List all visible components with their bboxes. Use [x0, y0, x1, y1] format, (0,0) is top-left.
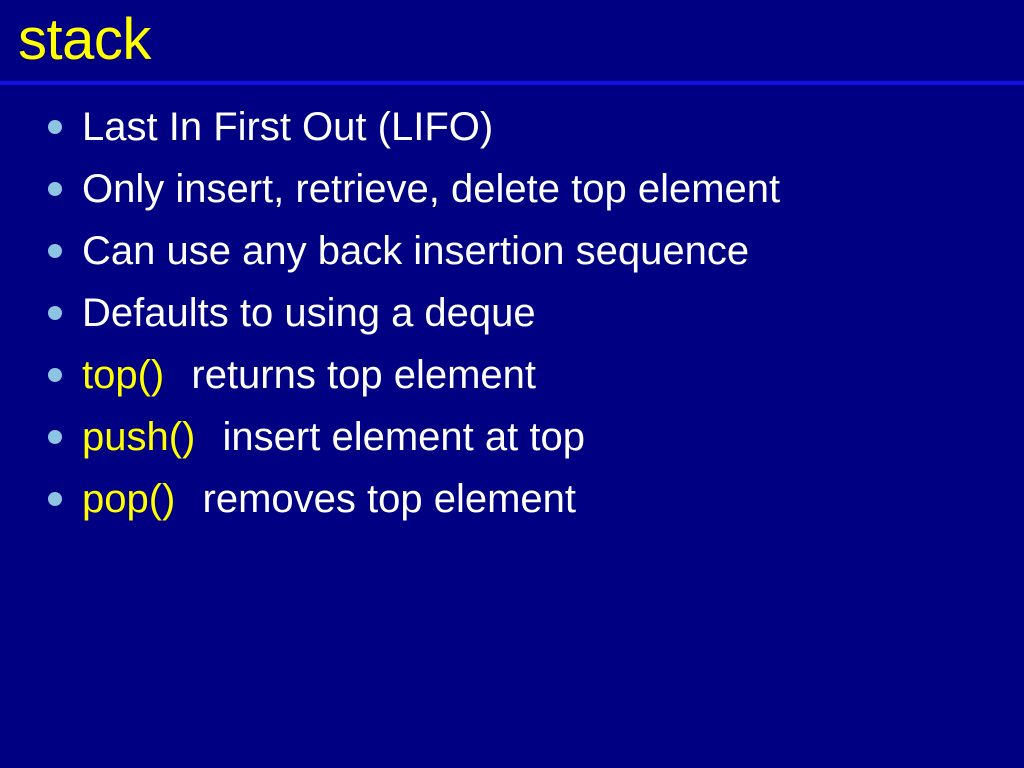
bullet-dot-icon: [48, 492, 62, 506]
bullet-dot-icon: [48, 182, 62, 196]
list-item: top() returns top element: [0, 344, 1024, 406]
list-item-label: Last In First Out (LIFO): [82, 105, 493, 149]
list-item-code: top(): [82, 353, 164, 397]
bullet-dot-icon: [48, 430, 62, 444]
list-item: Only insert, retrieve, delete top elemen…: [0, 158, 1024, 220]
list-item-label: Only insert, retrieve, delete top elemen…: [82, 167, 780, 211]
list-item: Can use any back insertion sequence: [0, 220, 1024, 282]
list-item-label: returns top element: [191, 353, 536, 397]
bullet-dot-icon: [48, 368, 62, 382]
bullet-dot-icon: [48, 306, 62, 320]
list-item: push() insert element at top: [0, 406, 1024, 468]
bullet-dot-icon: [48, 120, 62, 134]
list-item-label: removes top element: [203, 477, 577, 521]
list-item-label: Defaults to using a deque: [82, 291, 536, 335]
bullet-dot-icon: [48, 244, 62, 258]
list-item-code: pop(): [82, 477, 175, 521]
list-item: Last In First Out (LIFO): [0, 96, 1024, 158]
list-item: Defaults to using a deque: [0, 282, 1024, 344]
list-item: pop() removes top element: [0, 468, 1024, 530]
list-item-code: push(): [82, 415, 195, 459]
title-divider: [0, 81, 1024, 85]
bullet-list: Last In First Out (LIFO) Only insert, re…: [0, 96, 1024, 530]
list-item-label: insert element at top: [223, 415, 585, 459]
slide-canvas: stack Last In First Out (LIFO) Only inse…: [0, 0, 1024, 768]
list-item-label: Can use any back insertion sequence: [82, 229, 749, 273]
page-title: stack: [18, 2, 1008, 80]
